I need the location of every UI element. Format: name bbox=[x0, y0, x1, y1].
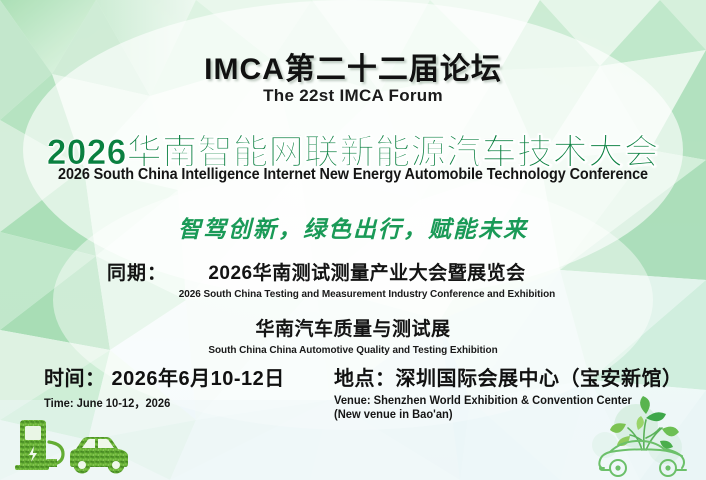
concurrent-label: 同期： bbox=[107, 258, 167, 285]
time-line-en: Time: June 10-12，2026 bbox=[44, 395, 278, 411]
venue-line-cn: 地点：深圳国际会展中心（宝安新馆） bbox=[334, 362, 683, 391]
ev-charging-station-car-icon bbox=[12, 416, 136, 476]
time-line-cn: 时间：2026年6月10-12日 bbox=[44, 362, 285, 391]
concurrent-event-1: 2026华南测试测量产业大会暨展览会 2026 South China Test… bbox=[0, 258, 706, 300]
event-2-name-cn: 华南汽车质量与测试展 bbox=[0, 314, 706, 341]
event-1-name-en: 2026 South China Testing and Measurement… bbox=[45, 288, 689, 300]
venue-label-cn: 地点： bbox=[334, 368, 396, 390]
forum-title-cn: IMCA第二十二届论坛 bbox=[0, 44, 706, 88]
conference-poster: IMCA第二十二届论坛 The 22st IMCA Forum 2026华南智能… bbox=[0, 0, 706, 480]
eco-car-with-leaves-icon bbox=[586, 396, 702, 480]
time-block: 时间：2026年6月10-12日 Time: June 10-12，2026 bbox=[44, 362, 285, 411]
main-title-en: 2026 South China Intelligence Internet N… bbox=[25, 166, 682, 184]
concurrent-events-section: 同期： 2026华南测试测量产业大会暨展览会 2026 South China … bbox=[0, 258, 706, 356]
concurrent-event-2: 华南汽车质量与测试展 South China China Automotive … bbox=[0, 314, 706, 356]
venue-value-cn: 深圳国际会展中心（宝安新馆） bbox=[396, 368, 683, 390]
time-value-cn: 2026年6月10-12日 bbox=[112, 368, 285, 390]
forum-title-en: The 22st IMCA Forum bbox=[0, 86, 706, 106]
event-2-name-en: South China China Automotive Quality and… bbox=[18, 344, 689, 356]
time-label-cn: 时间： bbox=[44, 368, 106, 390]
slogan: 智驾创新，绿色出行，赋能未来 bbox=[0, 210, 706, 244]
